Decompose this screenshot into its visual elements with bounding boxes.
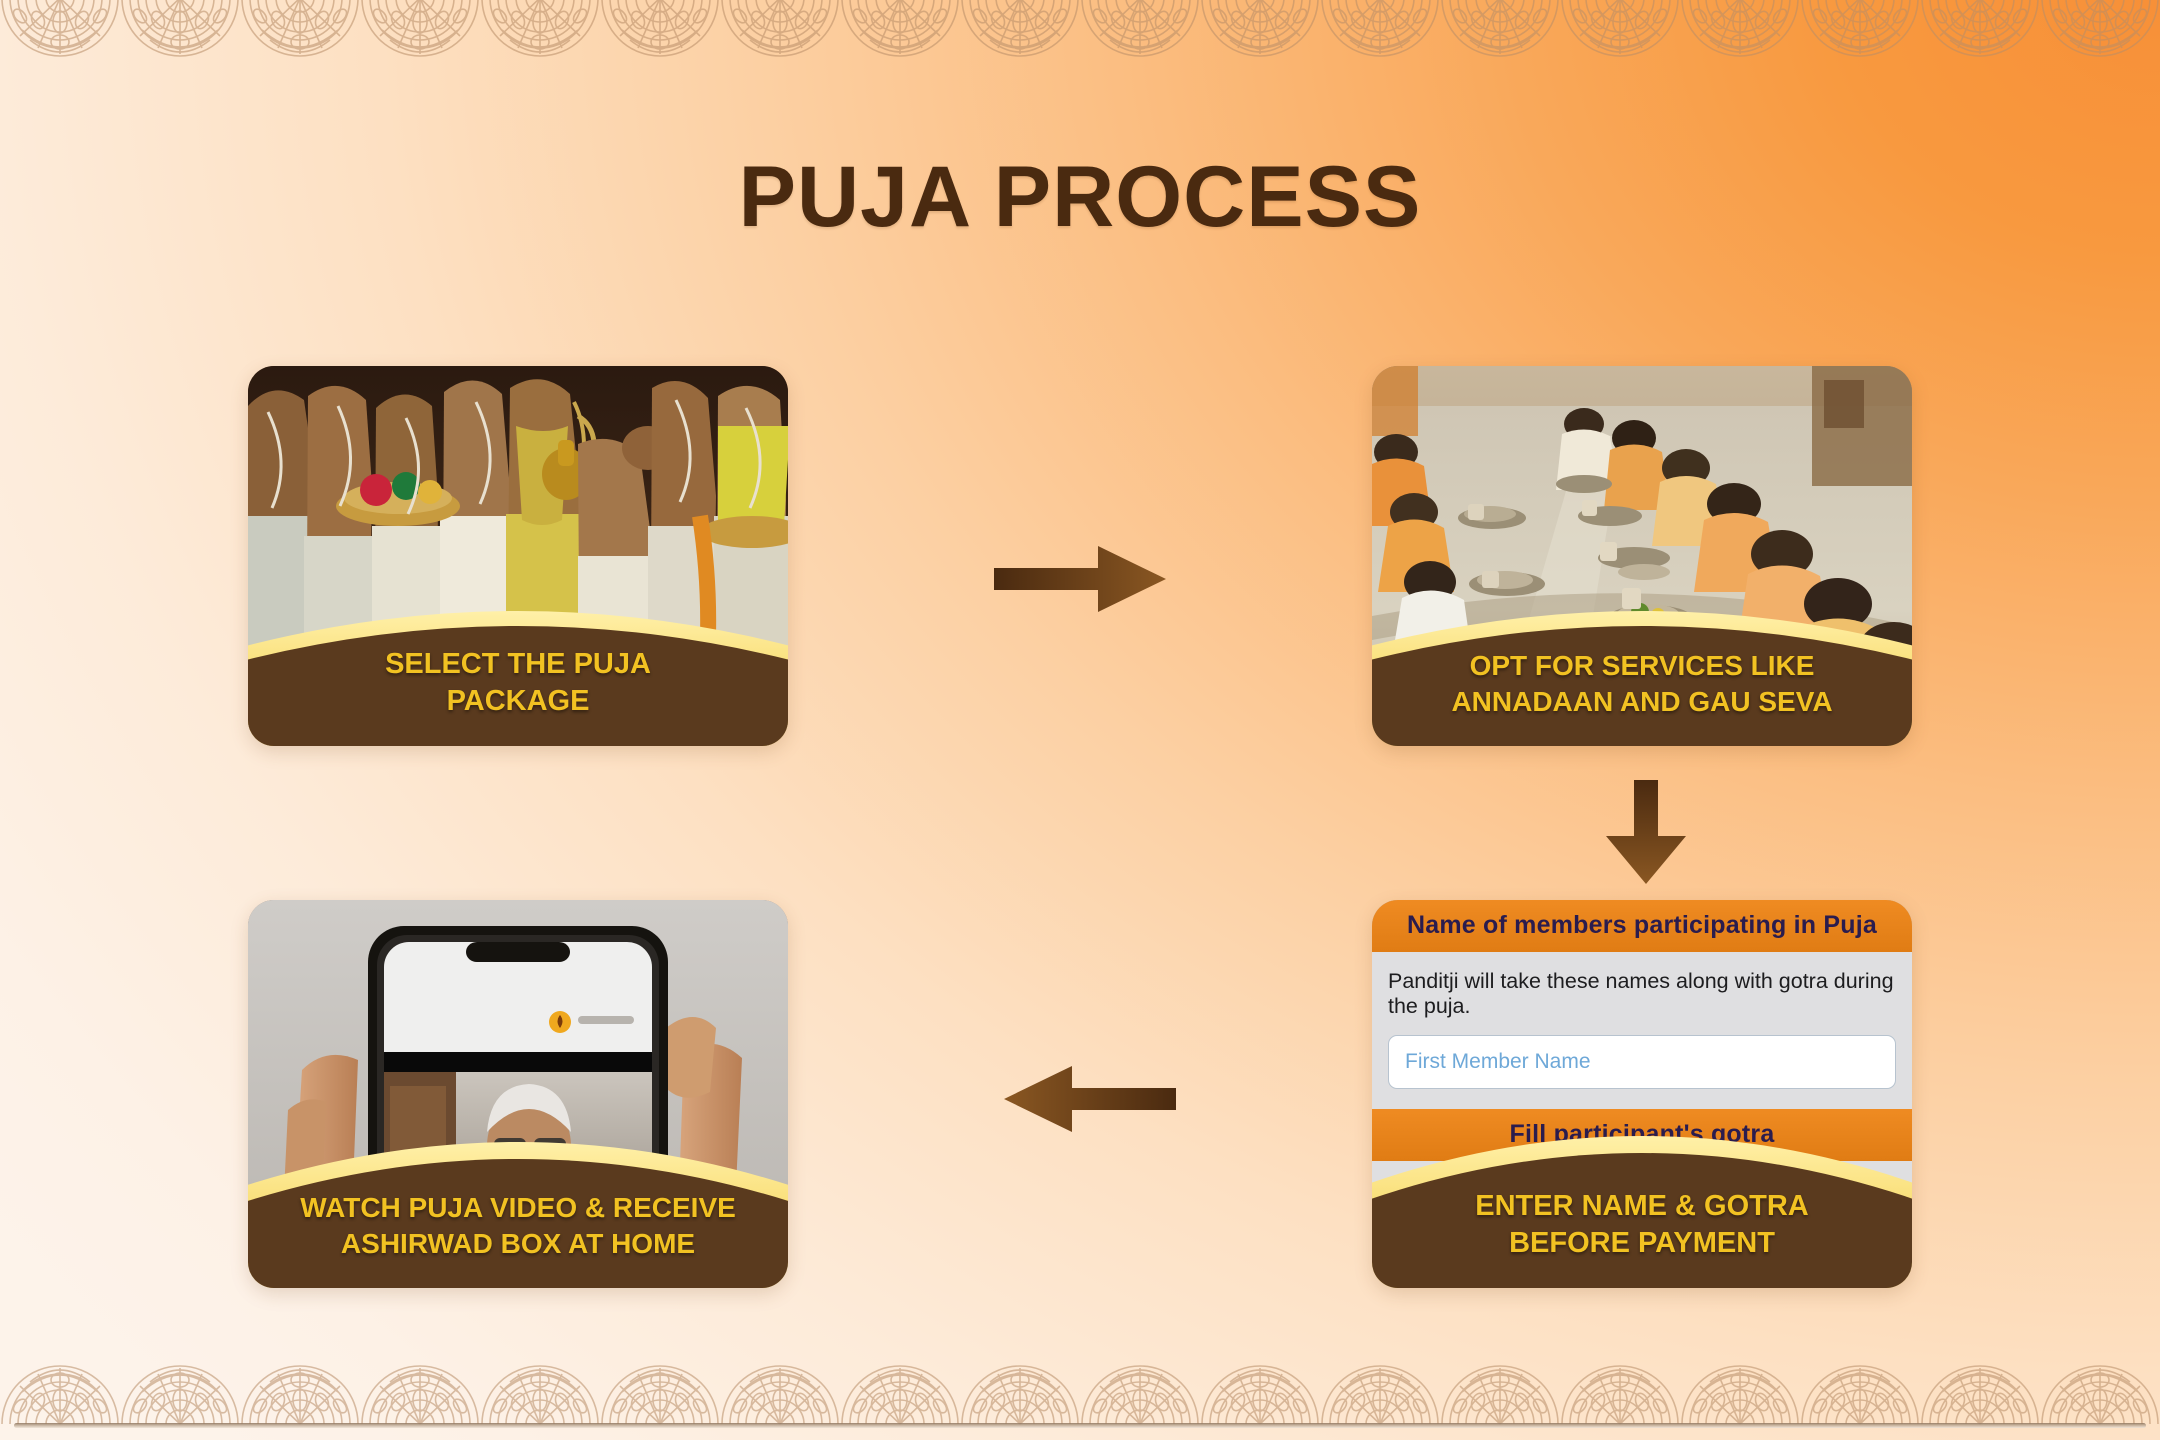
step-card-1[interactable]: SELECT THE PUJA PACKAGE bbox=[248, 366, 788, 746]
bottom-mandala-border bbox=[0, 1354, 2160, 1426]
step-3-caption-line1: ENTER NAME & GOTRA bbox=[1394, 1188, 1890, 1225]
step-card-3[interactable]: Name of members participating in Puja Pa… bbox=[1372, 900, 1912, 1288]
step-2-caption-line1: OPT FOR SERVICES LIKE bbox=[1394, 648, 1890, 684]
form-members-note: Panditji will take these names along wit… bbox=[1372, 952, 1912, 1019]
first-member-name-input[interactable]: First Member Name bbox=[1388, 1035, 1896, 1089]
step-1-caption: SELECT THE PUJA PACKAGE bbox=[248, 646, 788, 746]
step-3-caption-line2: BEFORE PAYMENT bbox=[1394, 1225, 1890, 1262]
page-title: PUJA PROCESS bbox=[0, 148, 2160, 247]
step-1-caption-line2: PACKAGE bbox=[270, 683, 766, 720]
first-member-name-placeholder: First Member Name bbox=[1405, 1050, 1591, 1074]
step-4-caption-line1: WATCH PUJA VIDEO & RECEIVE bbox=[270, 1190, 766, 1226]
arrow-down-step2-step3 bbox=[1600, 778, 1692, 888]
poster-canvas: PUJA PROCESS bbox=[0, 0, 2160, 1440]
step-card-2[interactable]: OPT FOR SERVICES LIKE ANNADAAN AND GAU S… bbox=[1372, 366, 1912, 746]
form-section-members-heading: Name of members participating in Puja bbox=[1372, 900, 1912, 952]
step-1-caption-line1: SELECT THE PUJA bbox=[270, 646, 766, 683]
step-2-caption-line2: ANNADAAN AND GAU SEVA bbox=[1394, 684, 1890, 720]
step-4-caption: WATCH PUJA VIDEO & RECEIVE ASHIRWAD BOX … bbox=[248, 1190, 788, 1288]
step-4-caption-line2: ASHIRWAD BOX AT HOME bbox=[270, 1226, 766, 1262]
step-3-caption: ENTER NAME & GOTRA BEFORE PAYMENT bbox=[1372, 1188, 1912, 1288]
top-mandala-border bbox=[0, 0, 2160, 68]
arrow-left-step3-step4 bbox=[1000, 1060, 1180, 1138]
arrow-right-step1-step2 bbox=[990, 540, 1170, 618]
bottom-divider-line bbox=[14, 1423, 2146, 1428]
step-card-4[interactable]: 0:22 / 1:00 WATCH PUJA VIDEO & RECEIVE A… bbox=[248, 900, 788, 1288]
form-section-gotra-heading: Fill participant's gotra bbox=[1372, 1109, 1912, 1161]
step-2-caption: OPT FOR SERVICES LIKE ANNADAAN AND GAU S… bbox=[1372, 648, 1912, 746]
